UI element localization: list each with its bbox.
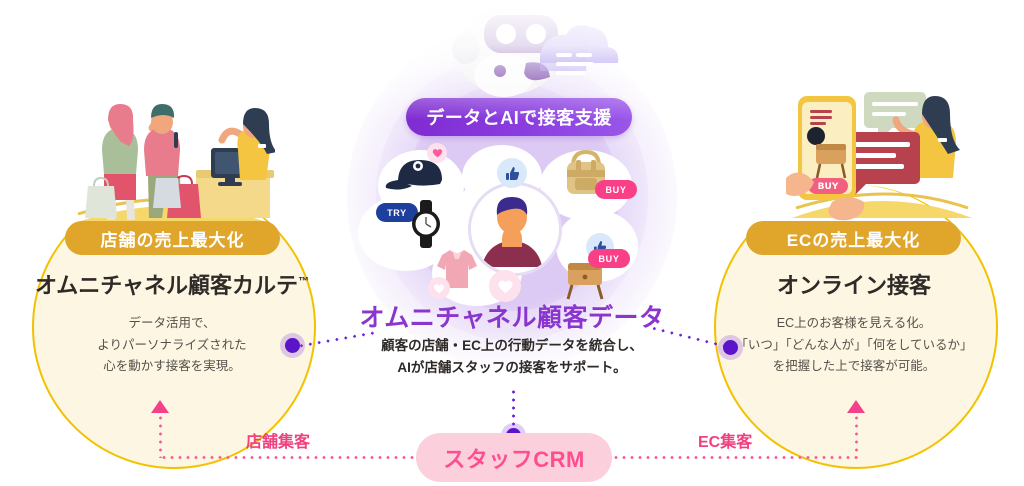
left-circle-body: データ活用で、 よりパーソナライズされた 心を動かす接客を実現。 xyxy=(22,313,322,378)
right-circle-body-line1: EC上のお客様を見える化。 xyxy=(704,313,1004,335)
left-circle-body-line2: よりパーソナライズされた xyxy=(22,335,322,357)
customer-avatar xyxy=(468,182,562,276)
flow-line-right xyxy=(612,456,858,459)
shirt-heart-badge xyxy=(428,277,450,299)
right-circle-body-line2: 「いつ」「どんな人が」「何をしているか」 xyxy=(704,335,1004,357)
left-circle-badge: 店舗の売上最大化 xyxy=(65,221,280,255)
flow-arrow-left xyxy=(151,400,169,413)
center-body-line2: AIが店舗スタッフの接客をサポート。 xyxy=(302,357,722,379)
buy-tag-bottom-label: BUY xyxy=(598,254,619,264)
left-circle-badge-label: 店舗の売上最大化 xyxy=(101,226,245,251)
node-dot-right xyxy=(723,340,738,355)
store-shoppers-illustration xyxy=(70,92,275,227)
center-top-fade xyxy=(330,0,694,120)
left-circle-title-text: オムニチャネル顧客カルテ xyxy=(35,273,298,298)
center-body-line1: 顧客の店舗・EC上の行動データを統合し、 xyxy=(302,335,722,357)
svg-text:BUY: BUY xyxy=(818,182,839,192)
center-body: 顧客の店舗・EC上の行動データを統合し、 AIが店舗スタッフの接客をサポート。 xyxy=(302,335,722,380)
watch-icon xyxy=(408,198,444,250)
try-tag-label: TRY xyxy=(387,208,407,218)
left-circle-body-line3: 心を動かす接客を実現。 xyxy=(22,356,322,378)
buy-tag-top: BUY xyxy=(595,180,637,199)
left-circle-body-line1: データ活用で、 xyxy=(22,313,322,335)
flow-line-left xyxy=(160,456,416,459)
right-circle-body-line3: を把握した上で接客が可能。 xyxy=(704,356,1004,378)
left-circle-title: オムニチャネル顧客カルテ™ xyxy=(22,268,322,300)
left-circle-title-tm: ™ xyxy=(298,276,309,288)
staff-crm-label: スタッフCRM xyxy=(443,442,585,474)
node-dot-left xyxy=(285,338,300,353)
right-circle-badge: ECの売上最大化 xyxy=(746,221,961,255)
infographic-canvas: データとAIで接客支援 BUY xyxy=(0,0,1024,486)
right-circle-title: オンライン接客 xyxy=(704,268,1004,300)
flow-label-left: 店舗集客 xyxy=(246,428,310,452)
flow-riser-right xyxy=(855,414,858,458)
staff-crm-pill: スタッフCRM xyxy=(416,433,612,482)
online-customer-illustration: BUY xyxy=(786,82,976,224)
flow-arrow-right xyxy=(847,400,865,413)
cap-heart-badge xyxy=(427,143,447,163)
like-bubble-top xyxy=(497,158,527,188)
flow-riser-left xyxy=(159,414,162,458)
flow-label-right: EC集客 xyxy=(698,428,752,452)
right-circle-badge-label: ECの売上最大化 xyxy=(787,226,921,251)
buy-tag-bottom: BUY xyxy=(588,249,630,268)
buy-tag-top-label: BUY xyxy=(605,185,626,195)
right-circle-body: EC上のお客様を見える化。 「いつ」「どんな人が」「何をしているか」 を把握した… xyxy=(704,313,1004,378)
